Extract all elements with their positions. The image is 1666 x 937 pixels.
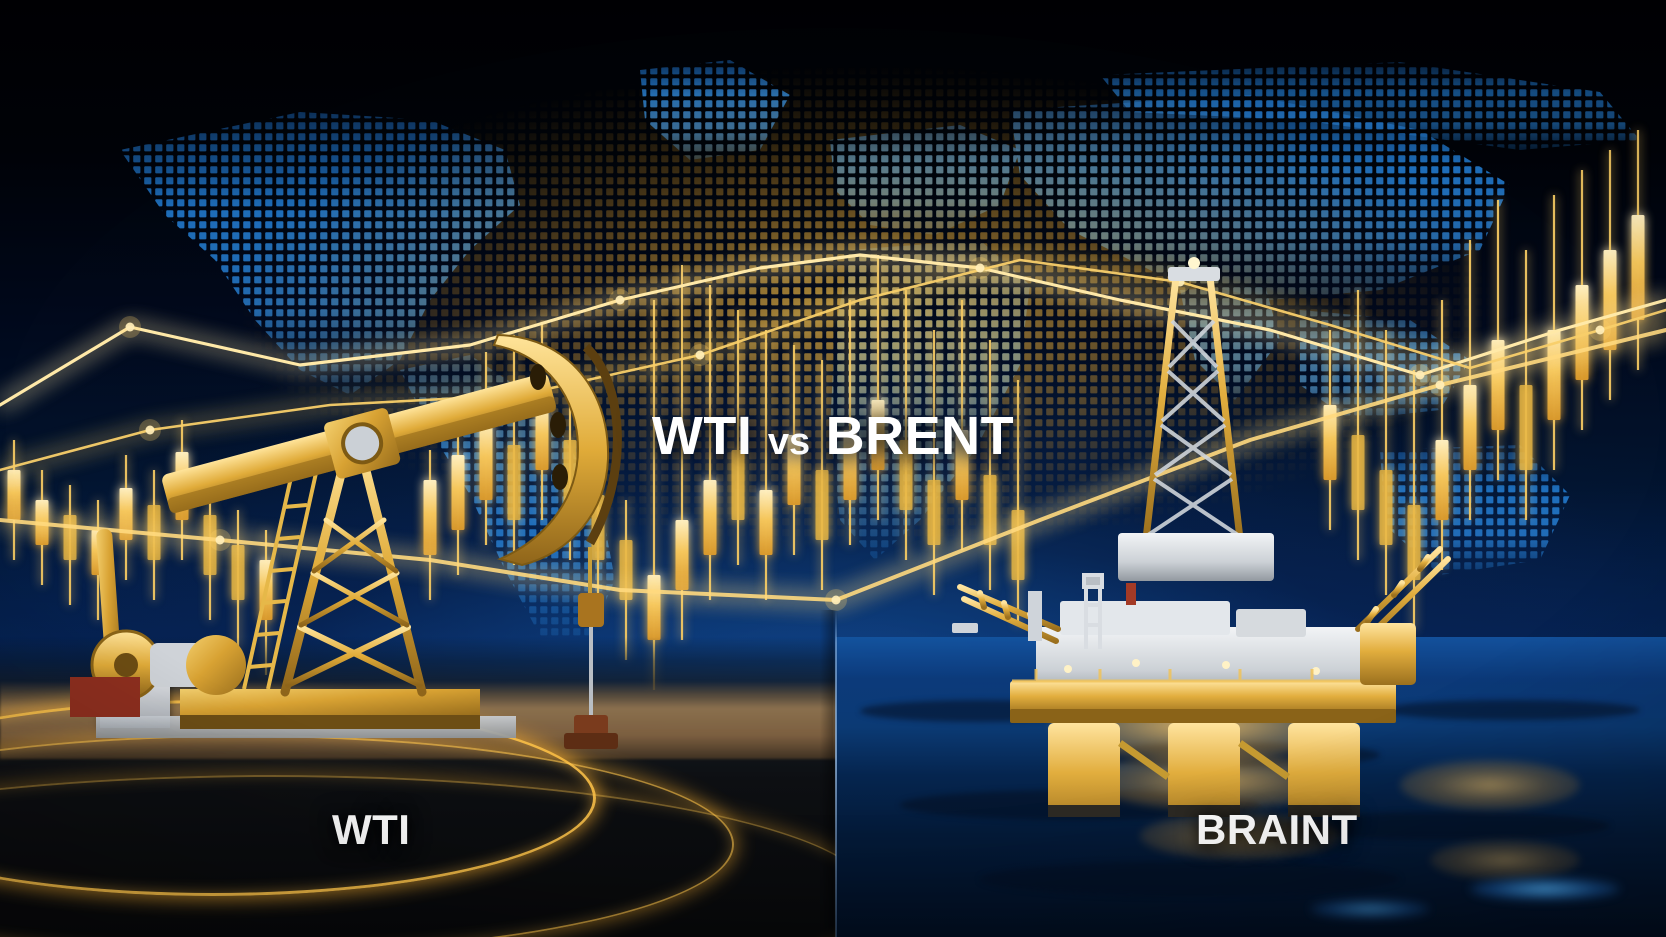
water-cyan-streak-2 <box>1310 900 1430 918</box>
rig-reflection-3 <box>1140 812 1340 860</box>
wave-5 <box>980 862 1400 896</box>
platform-signal-mast <box>1126 583 1136 605</box>
pumpjack-walking-beam <box>159 364 560 524</box>
platform-deck <box>1010 601 1396 723</box>
pumpjack-crank-arm <box>70 529 246 717</box>
platform-crane-left <box>952 587 1058 641</box>
split-seam <box>835 610 837 937</box>
platform-columns <box>1048 723 1360 817</box>
rig-reflection-5 <box>1430 840 1580 880</box>
banner-image: WTI vs BRENT WTI BRAINT <box>0 0 1666 937</box>
offshore-platform <box>940 257 1460 817</box>
platform-crane-right <box>1358 549 1448 685</box>
platform-derrick <box>1146 257 1240 539</box>
pumpjack-base <box>180 689 480 729</box>
pumpjack-unit <box>30 297 650 757</box>
platform-drill-floor <box>1118 533 1274 581</box>
pumpjack-bridle <box>564 547 618 749</box>
pumpjack-horsehead <box>494 335 617 565</box>
pumpjack-tower <box>285 447 422 692</box>
water-cyan-streak-1 <box>1470 878 1620 900</box>
pumpjack-ladder <box>244 473 316 689</box>
platform-vent-stack <box>1028 591 1042 641</box>
